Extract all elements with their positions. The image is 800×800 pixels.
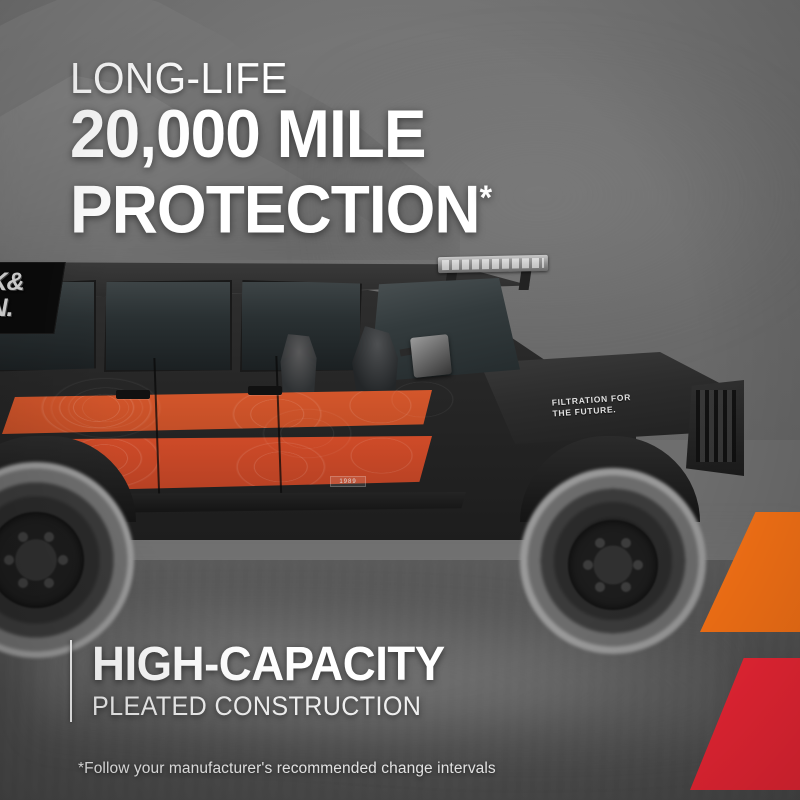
wheel-lug	[621, 582, 631, 592]
subheading-main: HIGH-CAPACITY	[92, 640, 445, 690]
promo-banner: 1989 K& N. FILTRATION FOR THE FUTURE. LO…	[0, 0, 800, 800]
wheel-lug	[18, 532, 28, 542]
subheading-divider	[70, 640, 72, 722]
headline-line-2-text: PROTECTION	[70, 172, 480, 248]
wheel-lug	[633, 560, 643, 570]
kn-brand-logo: K& N.	[0, 262, 66, 334]
headline-block: LONG-LIFE 20,000 MILE PROTECTION*	[70, 56, 690, 242]
subheading-secondary: PLEATED CONSTRUCTION	[92, 690, 437, 722]
subheading-block: HIGH-CAPACITY PLEATED CONSTRUCTION	[70, 640, 710, 722]
wheel-lug	[18, 578, 28, 588]
kn-logo-line1: K&	[0, 269, 24, 295]
wheel-lug	[595, 582, 605, 592]
door-badge: 1989	[330, 476, 366, 487]
kn-logo-line2: N.	[0, 295, 24, 321]
headline-line-1: 20,000 MILE	[70, 102, 653, 166]
kn-logo-text: K& N.	[0, 269, 24, 321]
wheel-lug	[583, 560, 593, 570]
vehicle-jeep: 1989 K& N.	[0, 240, 770, 660]
wheel-lug	[44, 532, 54, 542]
wheel-lug	[621, 538, 631, 548]
light-bar-mount-right	[519, 270, 532, 290]
door-handle-rear	[116, 390, 150, 399]
headline-asterisk: *	[480, 179, 492, 217]
side-mirror	[410, 334, 452, 378]
footnote-text: *Follow your manufacturer's recommended …	[78, 760, 496, 778]
roof-light-bar	[438, 255, 548, 273]
wheel-lug	[58, 555, 68, 565]
wheel-lug	[595, 538, 605, 548]
rear-door-window	[104, 280, 232, 372]
wheel-lug	[4, 555, 14, 565]
door-handle-front	[248, 386, 282, 395]
subheading-text-group: HIGH-CAPACITY PLEATED CONSTRUCTION	[92, 640, 463, 722]
wheel-lug	[44, 578, 54, 588]
headline-line-2: PROTECTION*	[70, 166, 653, 242]
front-wheel-hub	[568, 520, 658, 610]
